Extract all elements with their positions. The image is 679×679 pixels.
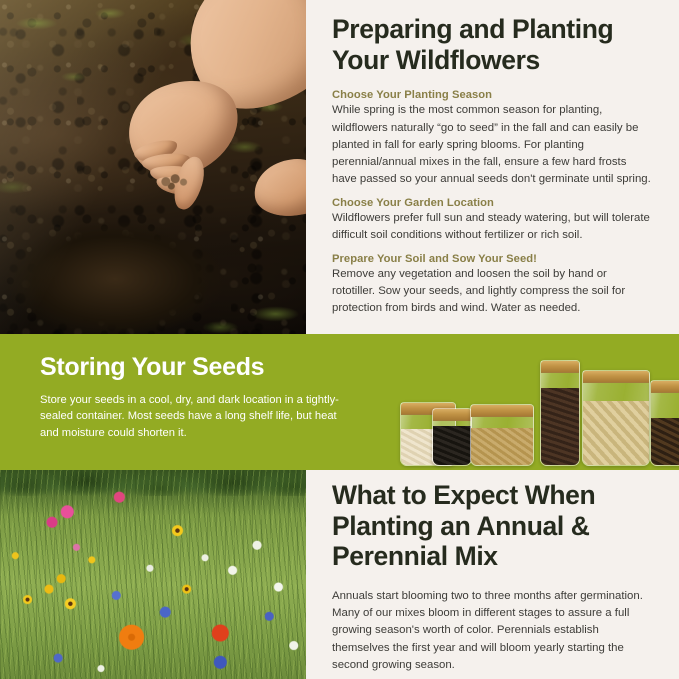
body-prepare-soil: Remove any vegetation and loosen the soi… <box>332 266 653 317</box>
preparing-text-panel: Preparing and Planting Your Wildflowers … <box>306 0 679 334</box>
storing-heading: Storing Your Seeds <box>40 354 350 382</box>
wildflower-meadow-image <box>0 470 306 679</box>
section-what-to-expect: What to Expect When Planting an Annual &… <box>0 470 679 679</box>
what-to-expect-body: Annuals start blooming two to three mont… <box>332 588 653 674</box>
seed-jar-tall-dark <box>540 360 580 466</box>
jar-contents <box>433 426 471 465</box>
cork-lid-icon <box>470 404 534 417</box>
seed-jar-mixed-seeds <box>650 380 679 466</box>
section-preparing-and-planting: Preparing and Planting Your Wildflowers … <box>0 0 679 334</box>
what-to-expect-text-panel: What to Expect When Planting an Annual &… <box>306 470 679 679</box>
cork-lid-icon <box>650 380 679 393</box>
seed-jar-black-seeds <box>432 408 472 466</box>
storing-body: Store your seeds in a cool, dry, and dar… <box>40 392 350 442</box>
flower-centers <box>0 470 306 679</box>
jar-contents <box>471 428 533 465</box>
subhead-planting-season: Choose Your Planting Season <box>332 89 653 101</box>
page-title: Preparing and Planting Your Wildflowers <box>332 14 653 75</box>
storing-text-panel: Storing Your Seeds Store your seeds in a… <box>40 354 350 442</box>
seed-jars-image <box>392 342 666 466</box>
body-garden-location: Wildflowers prefer full sun and steady w… <box>332 210 653 244</box>
subhead-prepare-soil: Prepare Your Soil and Sow Your Seed! <box>332 253 653 265</box>
subhead-garden-location: Choose Your Garden Location <box>332 197 653 209</box>
seed-jar-pumpkin-seeds <box>582 370 650 466</box>
sunlight-overlay <box>0 0 306 334</box>
cork-lid-icon <box>432 408 472 421</box>
jar-contents <box>541 388 579 465</box>
seed-jar-tan-grain <box>470 404 534 466</box>
cork-lid-icon <box>540 360 580 373</box>
hand-sowing-seeds-in-soil-image <box>0 0 306 334</box>
section-storing-your-seeds: Storing Your Seeds Store your seeds in a… <box>0 334 679 470</box>
body-planting-season: While spring is the most common season f… <box>332 102 653 188</box>
cork-lid-icon <box>582 370 650 383</box>
what-to-expect-heading: What to Expect When Planting an Annual &… <box>332 480 653 572</box>
jar-contents <box>583 401 649 465</box>
infographic-page: Preparing and Planting Your Wildflowers … <box>0 0 679 679</box>
jar-contents <box>651 418 679 465</box>
